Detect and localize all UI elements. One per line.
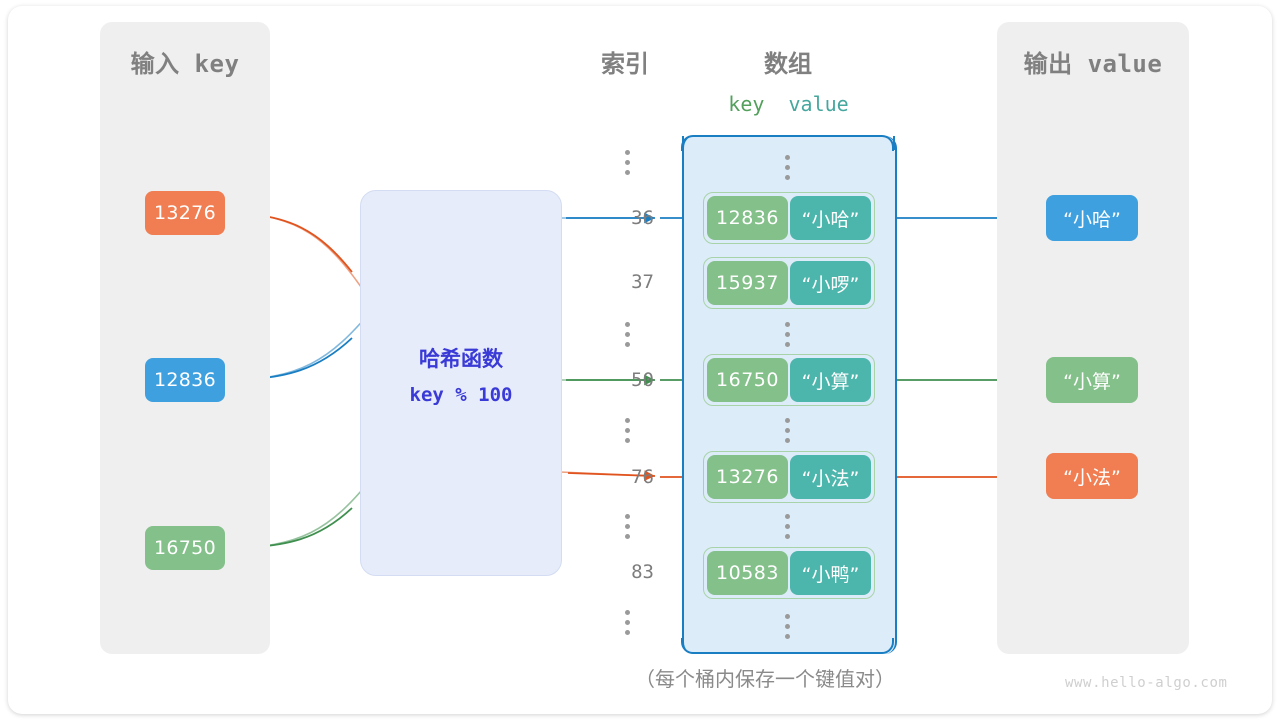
index-label: 83 bbox=[596, 561, 654, 583]
key-header-label: key bbox=[728, 92, 764, 116]
hash-function-formula: key % 100 bbox=[361, 384, 561, 406]
bucket-key: 13276 bbox=[707, 455, 788, 499]
index-column-header: 索引 bbox=[572, 44, 678, 79]
diagram-canvas: 输入 key 13276 12836 16750 哈希函数 key % 100 … bbox=[0, 0, 1280, 720]
bucket-key: 12836 bbox=[707, 196, 788, 240]
array-column-header: 数组 bbox=[710, 44, 866, 79]
ellipsis-icon bbox=[785, 614, 790, 639]
ellipsis-icon bbox=[785, 418, 790, 443]
bucket-key: 16750 bbox=[707, 358, 788, 402]
bucket-row[interactable]: 12836 “小哈” bbox=[703, 192, 875, 244]
bucket-key: 15937 bbox=[707, 261, 788, 305]
bucket-value: “小算” bbox=[790, 358, 871, 402]
watermark: www.hello-algo.com bbox=[1065, 675, 1228, 691]
ellipsis-icon bbox=[625, 514, 630, 539]
output-value-chip[interactable]: “小哈” bbox=[1046, 195, 1138, 241]
ellipsis-icon bbox=[625, 322, 630, 347]
output-value-panel: 输出 value bbox=[997, 22, 1189, 654]
bucket-value: “小鸭” bbox=[790, 551, 871, 595]
bucket-row[interactable]: 10583 “小鸭” bbox=[703, 547, 875, 599]
output-value-chip[interactable]: “小算” bbox=[1046, 357, 1138, 403]
bucket-value: “小哈” bbox=[790, 196, 871, 240]
ellipsis-icon bbox=[785, 514, 790, 539]
input-panel-title: 输入 key bbox=[100, 44, 270, 79]
output-value-chip[interactable]: “小法” bbox=[1046, 453, 1138, 499]
bucket-row[interactable]: 15937 “小啰” bbox=[703, 257, 875, 309]
value-header-label: value bbox=[789, 92, 849, 116]
diagram-caption: （每个桶内保存一个键值对） bbox=[560, 663, 970, 692]
bucket-value: “小啰” bbox=[790, 261, 871, 305]
bucket-row[interactable]: 16750 “小算” bbox=[703, 354, 875, 406]
ellipsis-icon bbox=[625, 418, 630, 443]
index-label: 37 bbox=[596, 271, 654, 293]
key-value-header: key value bbox=[682, 92, 895, 116]
hash-function-title: 哈希函数 bbox=[361, 343, 561, 373]
index-label: 50 bbox=[596, 369, 654, 391]
ellipsis-icon bbox=[785, 322, 790, 347]
bucket-row[interactable]: 13276 “小法” bbox=[703, 451, 875, 503]
ellipsis-icon bbox=[785, 155, 790, 180]
index-label: 36 bbox=[596, 207, 654, 229]
index-label: 76 bbox=[596, 466, 654, 488]
bucket-key: 10583 bbox=[707, 551, 788, 595]
bucket-value: “小法” bbox=[790, 455, 871, 499]
input-key-chip[interactable]: 16750 bbox=[145, 526, 225, 570]
ellipsis-icon bbox=[625, 610, 630, 635]
hash-function-panel: 哈希函数 key % 100 bbox=[360, 190, 562, 576]
output-panel-title: 输出 value bbox=[997, 44, 1189, 79]
ellipsis-icon bbox=[625, 150, 630, 175]
input-key-chip[interactable]: 12836 bbox=[145, 358, 225, 402]
input-key-chip[interactable]: 13276 bbox=[145, 191, 225, 235]
